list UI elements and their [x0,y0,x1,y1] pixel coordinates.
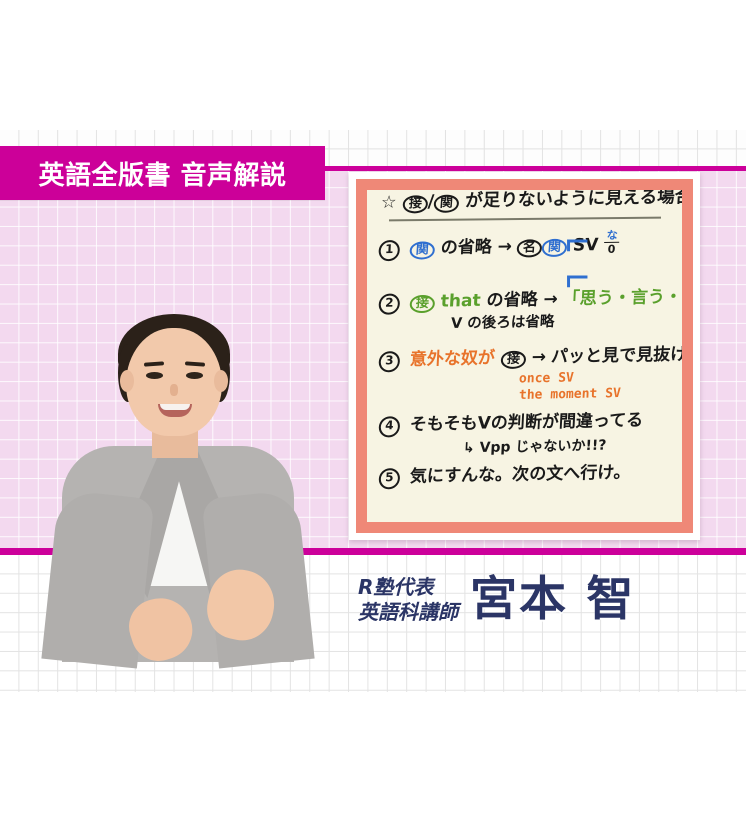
line-1-fraction-top: な [604,230,620,241]
presenter-eye-right [186,372,203,379]
presenter-role-line-2: 英語科講師 [358,601,458,623]
line-1-fraction-bottom: 0 [604,244,620,255]
board-line-3-example-2: the moment SV [519,387,622,402]
board-line-2: 2 接 that の省略 → 「思う・言う・known」系 [378,286,682,315]
presenter-teeth [160,404,190,410]
tag-setsu-heading: 接 [402,195,428,213]
board-line-3-example-1: once SV [519,371,575,385]
title-banner-text: 英語全版書 音声解説 [38,155,286,192]
presenter-nose [170,384,178,396]
line-2-sub-text: V の後ろは省略 [451,314,555,332]
line-1-fraction: な 0 [604,230,620,255]
title-banner: 英語全版書 音声解説 [0,146,325,200]
line-2-subject-word: that [440,291,481,312]
line-5-number: 5 [378,468,400,489]
line-5-text: 気にすんな。次の文へ行け。 [409,463,631,487]
line-4-sub-arrow-icon: ↳ [463,440,476,456]
whiteboard-paper: ☆ 接/関 が足りないように見える場合 1 関 の省略 → 名関 SV [367,190,682,522]
board-heading-rest: が足りないように見える場合 [465,190,682,211]
line-1-text: の省略 [440,237,492,258]
screenshot-root: 英語全版書 音声解説 ☆ 接/関 が足りないように見える場合 1 関 [0,0,746,820]
line-1-result-tag-mei: 名 [516,239,542,257]
board-line-4-sub: ↳ Vpp じゃないか!!? [463,439,607,456]
board-line-5: 5 気にすんな。次の文へ行け。 [378,464,631,490]
line-4-text: そもそもVの判断が間違ってる [409,410,643,434]
board-heading: ☆ 接/関 が足りないように見える場合 [380,190,682,214]
line-2-subject-tag: 接 [409,295,435,313]
line-1-arrow: → [497,237,511,257]
line-1-subject-tag: 関 [409,241,435,259]
line-1-number: 1 [378,240,400,261]
whiteboard: ☆ 接/関 が足りないように見える場合 1 関 の省略 → 名関 SV [349,172,700,540]
board-line-2-sub: V の後ろは省略 [451,315,555,331]
presenter-name-block: R塾代表 英語科講師 宮本 智 [358,576,635,623]
presenter-role: R塾代表 英語科講師 [358,576,458,623]
presenter-eye-left [146,372,163,379]
line-2-text: の省略 [486,290,538,311]
line-4-sub-text: Vpp じゃないか!!? [479,438,607,456]
line-2-arrow: → [543,289,557,309]
video-frame: 英語全版書 音声解説 ☆ 接/関 が足りないように見える場合 1 関 [0,130,746,692]
line-2-result-text: 「思う・言う・known」系 [562,285,682,309]
line-3-arrow: → [531,347,545,367]
tag-kan-heading: 関 [433,195,459,213]
board-line-3: 3 意外な奴が 接 → パッと見で見抜けない奴 [378,345,682,373]
presenter-ear-left [120,370,134,392]
heading-underline [389,217,661,221]
star-icon: ☆ [380,193,397,213]
line-2-number: 2 [378,293,400,314]
line-3-result-text: パッと見で見抜けない奴 [550,344,682,368]
presenter-head [126,328,222,436]
line-1-result-tag-kan: 関 [541,239,567,257]
presenter-photo [22,298,352,692]
whiteboard-frame: ☆ 接/関 が足りないように見える場合 1 関 の省略 → 名関 SV [356,179,693,533]
line-3-subject-tag: 接 [500,351,526,369]
presenter-name: 宮本 智 [470,576,635,623]
presenter-role-line-1: R塾代表 [358,576,458,598]
line-4-number: 4 [378,416,400,437]
line-3-subject-text: 意外な奴が [409,348,495,370]
line-3-number: 3 [378,351,400,372]
board-line-4: 4 そもそもVの判断が間違ってる [378,411,643,437]
presenter-ear-right [214,370,228,392]
